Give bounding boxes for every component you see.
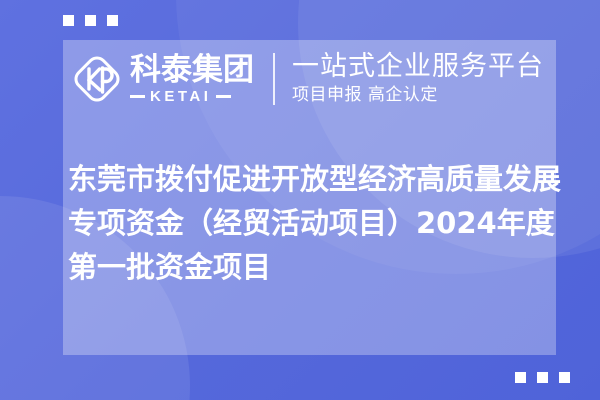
brand-name-en-row: KETAI bbox=[130, 89, 254, 104]
three-squares-icon-top bbox=[63, 15, 118, 26]
headline-title: 东莞市拨付促进开放型经济高质量发展专项资金（经贸活动项目）2024年度第一批资金… bbox=[68, 157, 568, 289]
vertical-divider-icon bbox=[273, 53, 275, 105]
brand-header: 科泰集团 KETAI 一站式企业服务平台 项目申报 高企认定 bbox=[70, 46, 544, 112]
promo-banner: 科泰集团 KETAI 一站式企业服务平台 项目申报 高企认定 东莞市拨付促进开放… bbox=[0, 0, 600, 400]
three-squares-icon-bottom bbox=[515, 372, 570, 383]
tagline-primary: 一站式企业服务平台 bbox=[292, 52, 544, 82]
square-decor bbox=[559, 372, 570, 383]
kp-diamond-logo-icon bbox=[70, 52, 124, 106]
brand-name-cn: 科泰集团 bbox=[130, 54, 254, 86]
brand-wordmark: 科泰集团 KETAI bbox=[130, 54, 254, 104]
brand-name-en: KETAI bbox=[150, 89, 211, 104]
square-decor bbox=[537, 372, 548, 383]
dash-right-icon bbox=[216, 95, 231, 98]
square-decor bbox=[515, 372, 526, 383]
square-decor bbox=[63, 15, 74, 26]
square-decor bbox=[85, 15, 96, 26]
tagline-secondary: 项目申报 高企认定 bbox=[292, 85, 544, 105]
square-decor bbox=[107, 15, 118, 26]
tagline-block: 一站式企业服务平台 项目申报 高企认定 bbox=[292, 52, 544, 106]
dash-left-icon bbox=[130, 95, 145, 98]
